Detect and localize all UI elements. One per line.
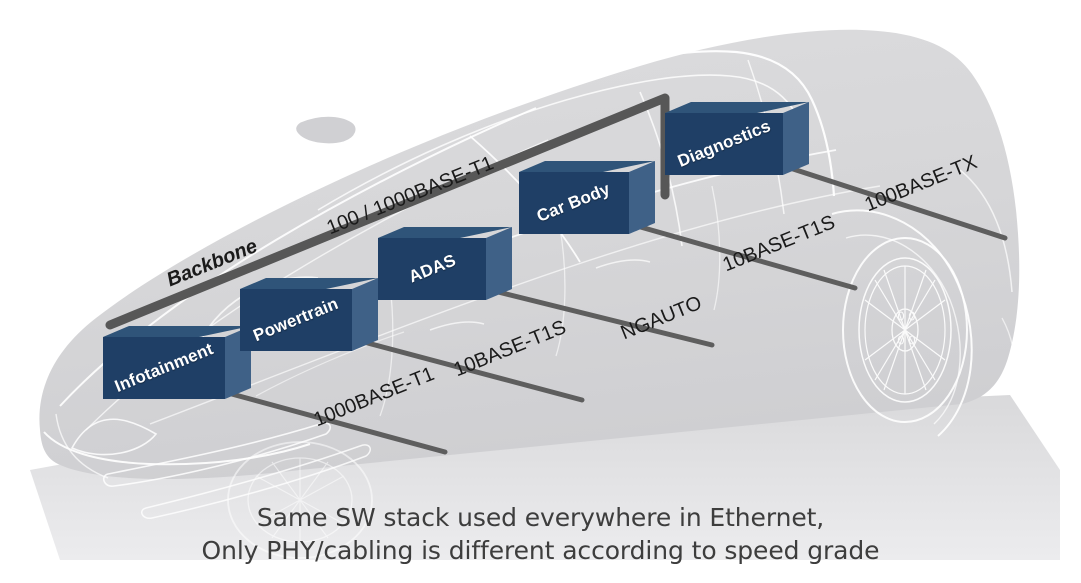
car-mirror <box>296 116 357 144</box>
car-mirror-stem <box>314 142 318 158</box>
car-body-shape <box>39 30 1019 479</box>
node-adas[interactable]: ADAS <box>378 238 486 300</box>
node-carbody-front-face: Car Body <box>519 172 629 234</box>
node-infotainment[interactable]: Infotainment <box>103 337 225 399</box>
node-carbody-side-face <box>629 161 655 234</box>
node-powertrain[interactable]: Powertrain <box>240 289 352 351</box>
node-carbody-label: Car Body <box>534 179 613 226</box>
caption-line-2: Only PHY/cabling is different according … <box>0 534 1081 567</box>
caption-line-1: Same SW stack used everywhere in Etherne… <box>0 501 1081 534</box>
node-powertrain-label: Powertrain <box>251 294 342 346</box>
node-adas-side-face <box>486 227 512 300</box>
node-adas-front-face: ADAS <box>378 238 486 300</box>
node-infotainment-label: Infotainment <box>112 339 216 397</box>
car-silhouette <box>0 0 1081 583</box>
node-diagnostics-label: Diagnostics <box>675 116 774 171</box>
node-diagnostics-front-face: Diagnostics <box>665 113 783 175</box>
node-diagnostics-side-face <box>783 102 809 175</box>
node-carbody[interactable]: Car Body <box>519 172 629 234</box>
node-powertrain-front-face: Powertrain <box>240 289 352 351</box>
node-infotainment-front-face: Infotainment <box>103 337 225 399</box>
node-diagnostics[interactable]: Diagnostics <box>665 113 783 175</box>
diagram-canvas: InfotainmentPowertrainADASCar BodyDiagno… <box>0 0 1081 583</box>
node-powertrain-side-face <box>352 278 378 351</box>
node-adas-label: ADAS <box>406 251 459 288</box>
caption: Same SW stack used everywhere in Etherne… <box>0 501 1081 567</box>
